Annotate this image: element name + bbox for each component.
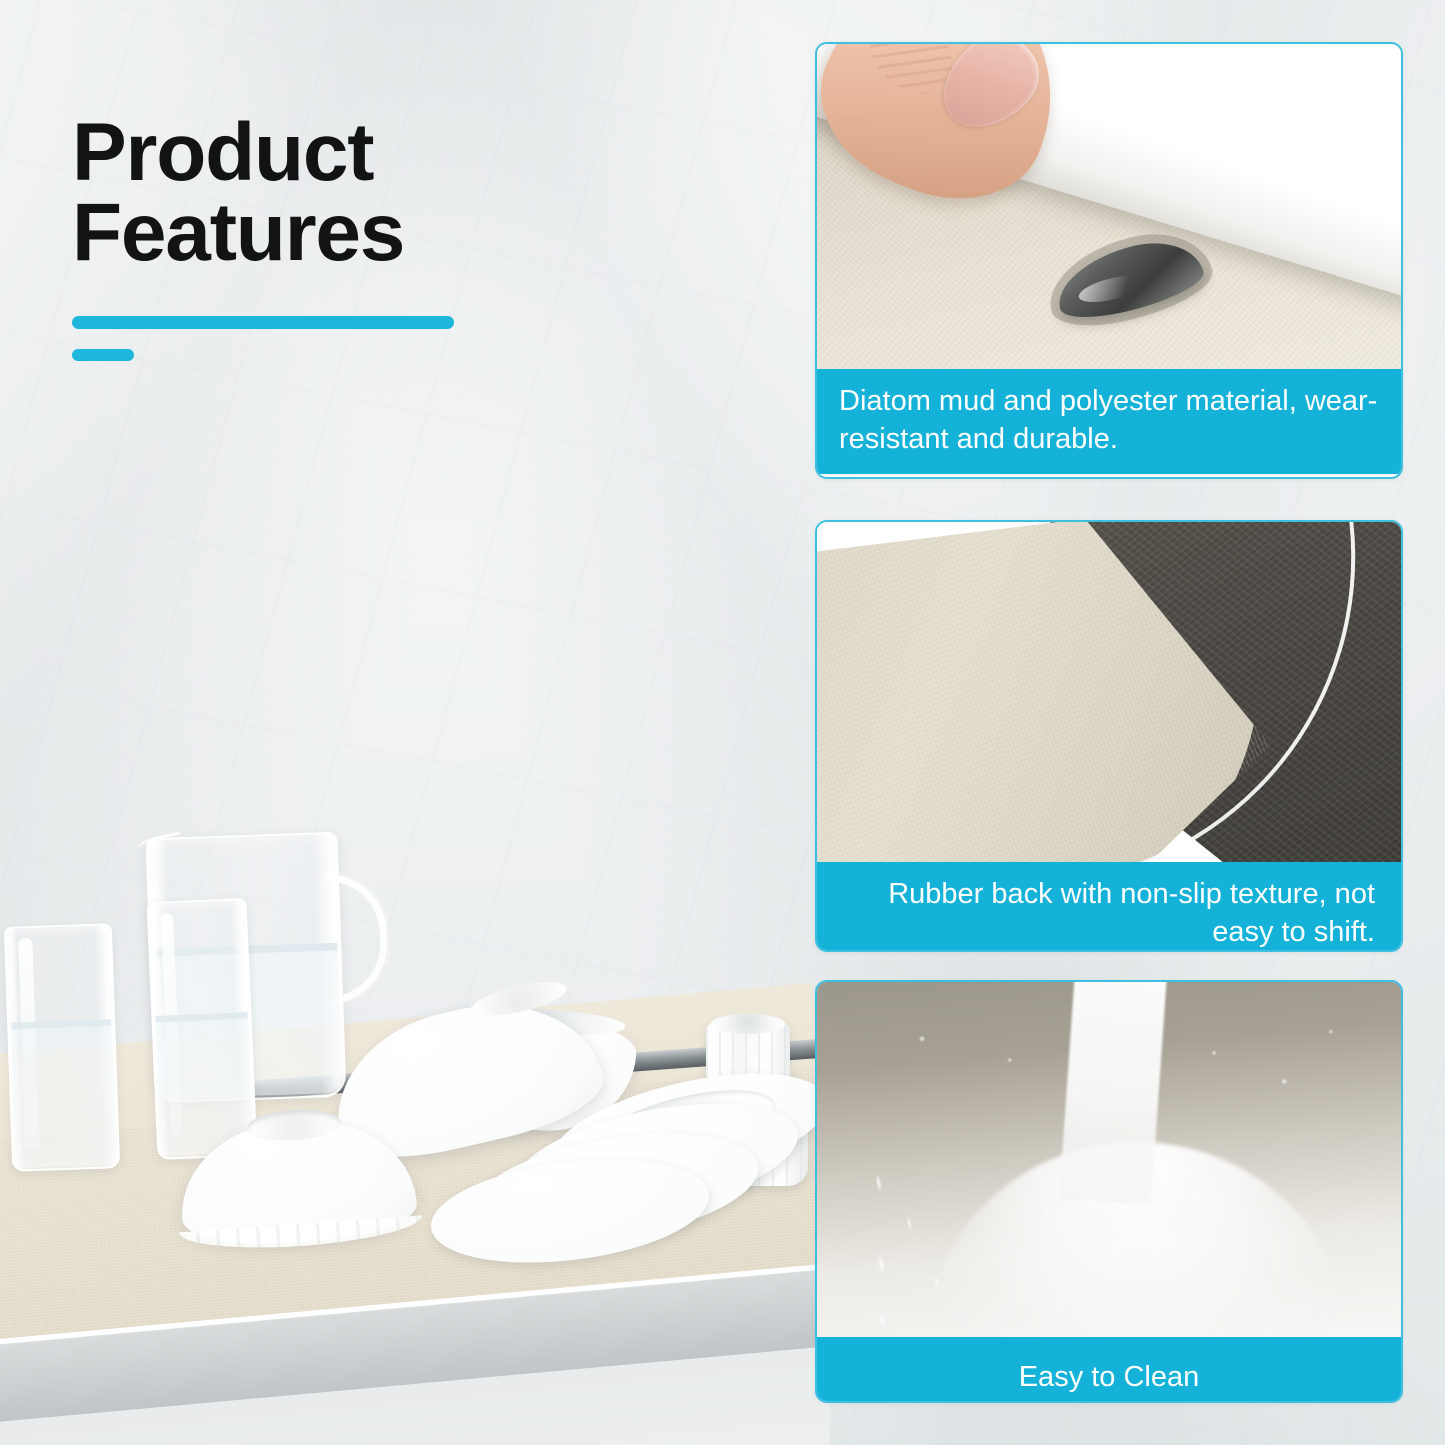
feature-caption-material: Diatom mud and polyester material, wear-… bbox=[817, 369, 1401, 474]
feature-photo-material bbox=[817, 44, 1401, 369]
drinking-glass-center bbox=[146, 898, 257, 1160]
drinking-glass-left bbox=[4, 923, 120, 1172]
accent-bar-long bbox=[72, 316, 454, 329]
feature-photo-rubber-back bbox=[817, 522, 1401, 862]
hero-product-photo bbox=[0, 770, 830, 1445]
glass-water bbox=[11, 1019, 116, 1167]
headline-line-2: Features bbox=[72, 187, 404, 278]
water-stream bbox=[1059, 982, 1167, 1205]
headline-block: ProductFeatures bbox=[72, 113, 712, 361]
pitcher-spout bbox=[136, 832, 182, 857]
headline-line-1: Product bbox=[72, 107, 373, 198]
product-features-infographic: ProductFeatures bbox=[0, 0, 1445, 1445]
feature-caption-rubber-back: Rubber back with non-slip texture, not e… bbox=[817, 862, 1401, 952]
feature-photo-easy-clean bbox=[817, 982, 1401, 1337]
feature-panel-material: Diatom mud and polyester material, wear-… bbox=[815, 42, 1403, 479]
feature-panel-rubber-back: Rubber back with non-slip texture, not e… bbox=[815, 520, 1403, 952]
feature-panel-easy-clean: Easy to Clean bbox=[815, 980, 1403, 1403]
accent-bar-short bbox=[72, 349, 134, 361]
page-title: ProductFeatures bbox=[72, 113, 712, 272]
feature-caption-easy-clean: Easy to Clean bbox=[817, 1337, 1401, 1403]
